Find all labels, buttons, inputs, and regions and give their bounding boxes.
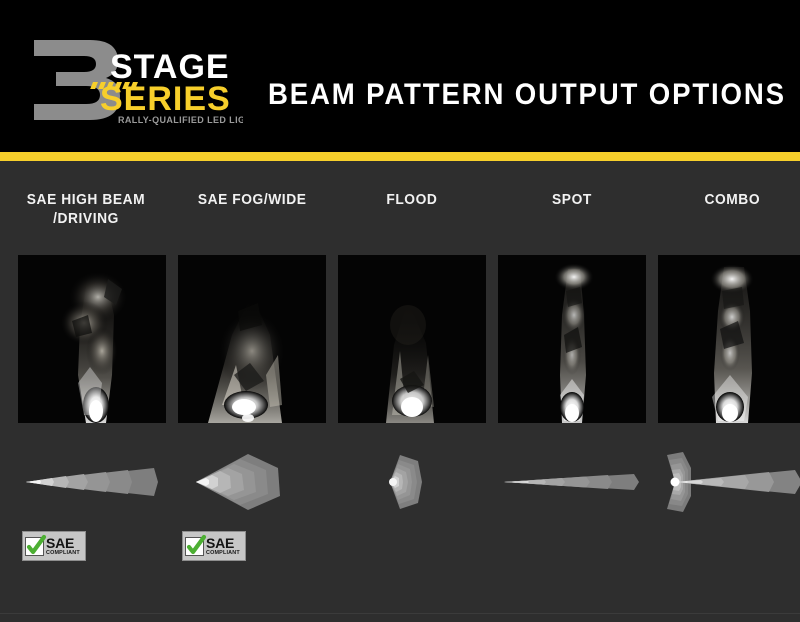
yellow-accent-bar bbox=[0, 152, 800, 161]
beam-photo-sae-high-beam-driving bbox=[18, 255, 166, 423]
beam-origin-highlight bbox=[671, 478, 680, 487]
beam-shape-driving bbox=[26, 468, 158, 496]
logo-word-series: SERIES bbox=[100, 80, 231, 118]
beam-shape-combo-spot bbox=[675, 470, 800, 494]
badge-text: SAE COMPLIANT bbox=[206, 536, 240, 556]
column-label: SAE HIGH BEAM /DRIVING bbox=[10, 191, 162, 229]
badge-text: SAE COMPLIANT bbox=[46, 536, 80, 556]
column-header-combo: COMBO bbox=[658, 181, 800, 255]
column-sae-fog-wide: SAE FOG/WIDE bbox=[178, 181, 326, 601]
badge-slot-combo bbox=[658, 531, 800, 575]
column-label: SAE FOG/WIDE bbox=[198, 191, 307, 210]
beam-photo-sae-fog-wide bbox=[178, 255, 326, 423]
beam-shape-fog-wide bbox=[196, 454, 280, 510]
footer-divider bbox=[0, 613, 800, 614]
checkbox-icon bbox=[25, 537, 44, 556]
sae-compliant-badge: SAE COMPLIANT bbox=[22, 531, 86, 561]
content-area: SAE HIGH BEAM /DRIVING bbox=[0, 161, 800, 622]
beam-diagram-combo bbox=[658, 445, 800, 519]
column-header-spot: SPOT bbox=[498, 181, 646, 255]
beam-diagram-spot bbox=[498, 445, 646, 519]
column-combo: COMBO bbox=[658, 181, 800, 601]
beam-shape-spot bbox=[504, 474, 639, 490]
beam-pattern-infographic: STAGE SERIES RALLY-QUALIFIED LED LIGHTIN… bbox=[0, 0, 800, 622]
beam-photo-flood bbox=[338, 255, 486, 423]
column-header-sae-high-beam-driving: SAE HIGH BEAM /DRIVING bbox=[18, 181, 166, 255]
checkbox-icon bbox=[185, 537, 204, 556]
page-title: BEAM PATTERN OUTPUT OPTIONS bbox=[268, 78, 786, 112]
badge-main-text: SAE bbox=[46, 536, 74, 550]
beam-shape-flood bbox=[389, 455, 422, 509]
column-sae-high-beam-driving: SAE HIGH BEAM /DRIVING bbox=[18, 181, 166, 601]
beam-pattern-columns: SAE HIGH BEAM /DRIVING bbox=[18, 181, 782, 601]
badge-sub-text: COMPLIANT bbox=[46, 551, 80, 556]
badge-slot-flood bbox=[338, 531, 486, 575]
badge-slot-sae-fog-wide: SAE COMPLIANT bbox=[178, 531, 326, 575]
beam-diagram-flood bbox=[338, 445, 486, 519]
header-bar: STAGE SERIES RALLY-QUALIFIED LED LIGHTIN… bbox=[0, 0, 800, 152]
column-spot: SPOT bbox=[498, 181, 646, 601]
column-flood: FLOOD bbox=[338, 181, 486, 601]
logo-tagline: RALLY-QUALIFIED LED LIGHTING bbox=[118, 115, 243, 125]
beam-photo-combo bbox=[658, 255, 800, 423]
check-icon bbox=[29, 537, 44, 552]
check-icon bbox=[189, 537, 204, 552]
beam-diagram-fog-wide bbox=[178, 445, 326, 519]
badge-slot-sae-high-beam-driving: SAE COMPLIANT bbox=[18, 531, 166, 575]
beam-diagram-driving bbox=[18, 445, 166, 519]
beam-photo-spot bbox=[498, 255, 646, 423]
badge-slot-spot bbox=[498, 531, 646, 575]
column-label: COMBO bbox=[704, 191, 760, 210]
column-header-flood: FLOOD bbox=[338, 181, 486, 255]
badge-sub-text: COMPLIANT bbox=[206, 551, 240, 556]
column-header-sae-fog-wide: SAE FOG/WIDE bbox=[178, 181, 326, 255]
stage-series-logo: STAGE SERIES RALLY-QUALIFIED LED LIGHTIN… bbox=[28, 30, 243, 128]
column-label: FLOOD bbox=[386, 191, 437, 210]
column-label: SPOT bbox=[552, 191, 592, 210]
badge-main-text: SAE bbox=[206, 536, 234, 550]
sae-compliant-badge: SAE COMPLIANT bbox=[182, 531, 246, 561]
